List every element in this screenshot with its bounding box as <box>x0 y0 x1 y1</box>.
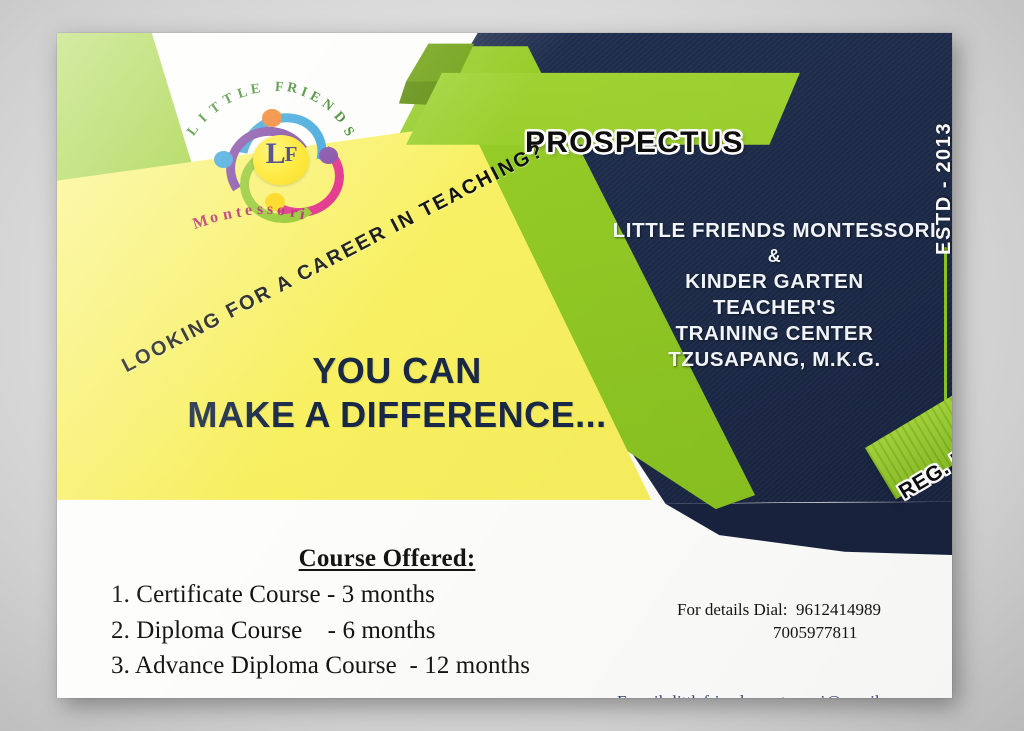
logo-monogram-l: L <box>266 137 285 170</box>
institute-line-1: LITTLE FRIENDS MONTESSORI <box>602 218 947 244</box>
institute-ampersand: & <box>602 244 947 268</box>
course-item: 1. Certificate Course - 3 months <box>111 577 677 613</box>
headline-line-2: MAKE A DIFFERENCE... <box>117 393 677 437</box>
logo-dot-blue <box>214 151 233 168</box>
contact-email: E-mail: littlefriendsmontessori@gmail.co… <box>617 692 952 698</box>
institute-line-4: TRAINING CENTER <box>602 321 947 347</box>
contact-phone-secondary: 7005977811 <box>677 622 952 645</box>
course-item: 3. Advance Diploma Course - 12 months <box>111 648 677 684</box>
prospectus-title: PROSPECTUS <box>525 126 744 160</box>
institute-line-5: TZUSAPANG, M.K.G. <box>602 347 947 373</box>
institute-name-block: LITTLE FRIENDS MONTESSORI & KINDER GARTE… <box>602 218 947 373</box>
main-headline: YOU CAN MAKE A DIFFERENCE... <box>117 349 677 437</box>
logo-dot-purple <box>319 147 338 164</box>
logo-dot-orange <box>262 109 282 127</box>
courses-section: Course Offered: 1. Certificate Course - … <box>97 545 677 684</box>
headline-line-1: YOU CAN <box>117 349 677 393</box>
institute-line-3: TEACHER'S <box>602 295 947 321</box>
contact-phone-primary: For details Dial: 9612414989 <box>677 599 952 622</box>
logo-monogram: LF <box>253 139 309 169</box>
contact-block: For details Dial: 9612414989 7005977811 <box>677 599 952 645</box>
course-item: 2. Diploma Course - 6 months <box>111 613 677 649</box>
estd-label: ESTD - 2013 <box>933 105 952 255</box>
courses-list: 1. Certificate Course - 3 months 2. Dipl… <box>97 577 677 684</box>
logo-monogram-f: F <box>285 142 297 166</box>
flyer-sheet: PROSPECTUS L I T T L E F R I E N D S <box>57 33 952 698</box>
institute-line-2: KINDER GARTEN <box>602 269 947 295</box>
estd-divider-line <box>944 247 947 403</box>
poster-canvas: PROSPECTUS L I T T L E F R I E N D S <box>0 0 1024 731</box>
logo: L I T T L E F R I E N D S <box>175 81 381 241</box>
courses-heading: Course Offered: <box>97 545 677 573</box>
logo-bottom-arc-text: M o n t e s s o r i <box>191 201 366 241</box>
